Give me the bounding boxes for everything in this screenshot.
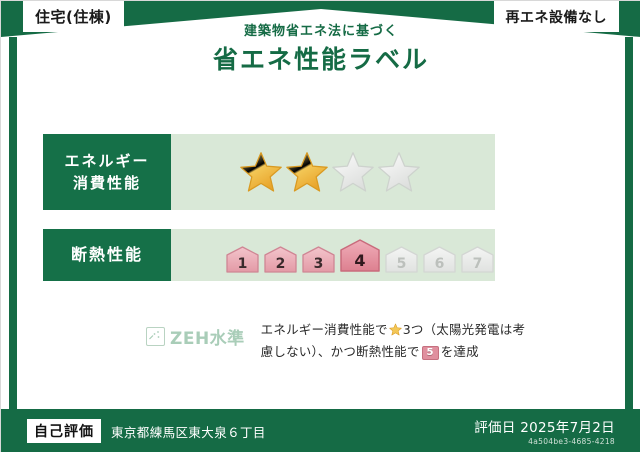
- footer-bar: 自己評価 東京都練馬区東大泉６丁目 評価日 2025年7月2日 4a504be3…: [1, 409, 640, 452]
- zeh-logo-text: ZEH水準: [170, 324, 245, 349]
- house-icon-level-6: 6: [422, 244, 457, 274]
- page-title: 省エネ性能ラベル: [1, 43, 640, 77]
- insulation-performance-row: 断熱性能: [43, 229, 495, 281]
- badge-building-type: 住宅(住棟): [23, 1, 124, 32]
- zeh-mark-icon: [146, 327, 165, 346]
- evaluation-date-label: 評価日: [474, 420, 515, 436]
- insulation-performance-label: 断熱性能: [43, 229, 171, 281]
- zeh-description: エネルギー消費性能で3つ（太陽光発電は考慮しない）、かつ断熱性能で5を達成: [261, 319, 531, 363]
- badge-renewable-equipment: 再エネ設備なし: [494, 1, 620, 32]
- star-icon-filled-2: [285, 150, 329, 194]
- energy-performance-value: [171, 134, 495, 210]
- star-icon-empty-3: [331, 150, 375, 194]
- house-icon-level-2: 2: [263, 244, 298, 274]
- zeh-logo: ZEH水準: [146, 324, 245, 349]
- footer-right-group: 評価日 2025年7月2日 4a504be3-4685-4218: [474, 416, 615, 446]
- svg-text:6: 6: [435, 256, 445, 272]
- evaluation-type-badge: 自己評価: [27, 419, 101, 443]
- inline-level-badge: 5: [422, 346, 439, 360]
- property-address: 東京都練馬区東大泉６丁目: [111, 422, 266, 441]
- zeh-desc-part4: を達成: [441, 344, 479, 359]
- energy-label-line2: 消費性能: [73, 172, 141, 195]
- house-icon-level-3: 3: [301, 244, 336, 274]
- energy-performance-label-card: 住宅(住棟) 再エネ設備なし 建築物省エネ法に基づく 省エネ性能ラベル エネルギ…: [0, 0, 640, 452]
- insulation-level-scale: 1 2 3 4 5: [225, 236, 495, 274]
- star-icon-empty-4: [377, 150, 421, 194]
- star-icon-inline: [389, 323, 402, 336]
- zeh-desc-part1: エネルギー消費性能で: [261, 322, 388, 337]
- house-icon-level-5: 5: [384, 244, 419, 274]
- svg-text:5: 5: [397, 256, 407, 272]
- evaluation-date: 評価日 2025年7月2日: [474, 416, 615, 436]
- zeh-standard-block: ZEH水準 エネルギー消費性能で3つ（太陽光発電は考慮しない）、かつ断熱性能で5…: [146, 319, 531, 363]
- svg-text:7: 7: [473, 256, 483, 272]
- energy-performance-row: エネルギー 消費性能: [43, 134, 495, 210]
- label-id-code: 4a504be3-4685-4218: [474, 437, 615, 446]
- evaluation-date-value: 2025年7月2日: [520, 420, 615, 436]
- star-icon-filled-1: [239, 150, 283, 194]
- insulation-performance-value: 1 2 3 4 5: [171, 229, 495, 281]
- star-rating: [239, 150, 421, 194]
- svg-text:4: 4: [354, 251, 365, 270]
- svg-text:2: 2: [276, 256, 286, 272]
- house-icon-level-1: 1: [225, 244, 260, 274]
- energy-performance-label: エネルギー 消費性能: [43, 134, 171, 210]
- energy-label-line1: エネルギー: [64, 150, 149, 173]
- house-icon-level-4-active: 4: [339, 236, 381, 274]
- svg-text:3: 3: [314, 256, 324, 272]
- zeh-mark-glyph: [147, 328, 163, 344]
- footer-left-group: 自己評価 東京都練馬区東大泉６丁目: [27, 419, 474, 443]
- house-icon-level-7: 7: [460, 244, 495, 274]
- svg-text:1: 1: [238, 256, 248, 272]
- zeh-desc-part2: 3つ（太陽光発電: [403, 322, 500, 337]
